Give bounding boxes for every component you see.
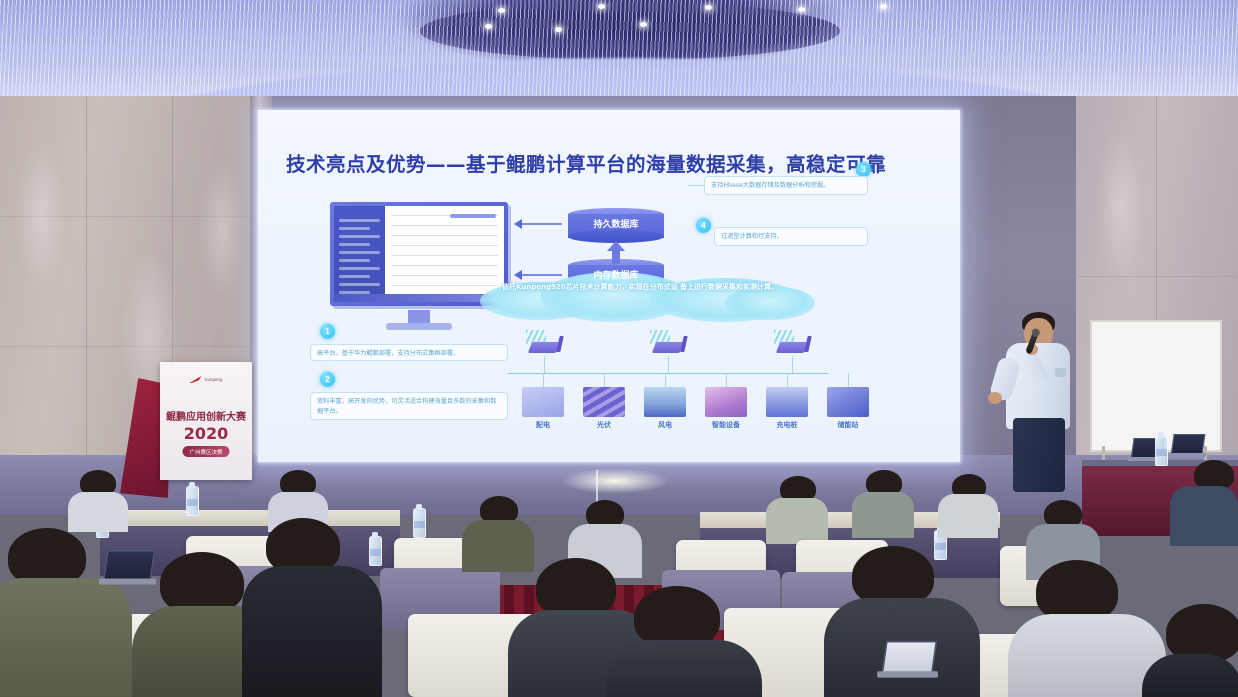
- device-label-1: 光伏: [583, 420, 625, 430]
- audience-head-f6: [852, 546, 934, 606]
- device-wind: 风电: [644, 387, 686, 430]
- audience-body-f8: [1142, 654, 1238, 697]
- laptop-audience-2: [877, 641, 935, 679]
- water-bottle-4: [369, 536, 382, 566]
- callout-bubble-1: 高平台，基于华为鲲鹏部署，支持分布式集群部署。: [310, 344, 508, 361]
- callout-badge-1: 1: [320, 324, 335, 339]
- audience-body-b5: [938, 494, 998, 538]
- presenter-left-hand: [988, 392, 1002, 404]
- audience-body-f5: [606, 640, 762, 697]
- audience-head-f5: [634, 586, 720, 648]
- audience-body-b2: [68, 492, 128, 532]
- kunpeng-logo: Kunpeng: [189, 376, 222, 383]
- standee-subtitle: 广州赛区决赛: [182, 446, 229, 457]
- device-smart: 智能设备: [705, 387, 747, 430]
- laptop-2: [1168, 434, 1204, 458]
- cloud-caption: 依托Kunpeng920芯片技术计算能力，实现在分布式设 备上进行数据采集和实测…: [470, 282, 810, 294]
- gateway-device-icon-1: [530, 336, 564, 356]
- audience-body-f3: [242, 566, 382, 697]
- device-energy-storage: 储能站: [827, 387, 869, 430]
- audience-body-m1: [462, 520, 534, 572]
- audience-body-b3: [766, 498, 828, 544]
- device-label-3: 智能设备: [705, 420, 747, 430]
- projection-screen: 技术亮点及优势——基于鲲鹏计算平台的海量数据采集，高稳定可靠: [258, 110, 960, 462]
- water-bottle-judges: [1155, 436, 1168, 466]
- device-solar: 光伏: [583, 387, 625, 430]
- wind-turbine-icon: [644, 387, 686, 417]
- whiteboard: [1090, 320, 1222, 452]
- persistent-database-icon: 持久数据库: [568, 208, 664, 242]
- callout-bubble-4: 过滤型计算和行支持。: [714, 227, 868, 246]
- conference-photo: 技术亮点及优势——基于鲲鹏计算平台的海量数据采集，高稳定可靠: [0, 0, 1238, 697]
- audience-body-b6: [1170, 486, 1238, 546]
- standee-year: 2020: [160, 424, 252, 443]
- callout-badge-3: 3: [856, 162, 871, 177]
- smart-device-icon: [705, 387, 747, 417]
- device-power-distribution: 配电: [522, 387, 564, 430]
- monitor-sidebar: [334, 206, 385, 302]
- audience-body-f1: [0, 578, 132, 697]
- device-label-2: 风电: [644, 420, 686, 430]
- device-label-5: 储能站: [827, 420, 869, 430]
- standee-title: 鲲鹏应用创新大赛: [160, 408, 252, 423]
- memory-database-label: 内存数据库: [568, 268, 664, 281]
- callout-badge-4: 4: [696, 218, 711, 233]
- charging-pile-icon: [766, 387, 808, 417]
- audience-head-f2: [160, 552, 244, 614]
- gateway-device-icon-2: [654, 336, 688, 356]
- solar-panel-icon: [583, 387, 625, 417]
- gateway-device-icon-3: [778, 336, 812, 356]
- kunpeng-brand-text: Kunpeng: [204, 377, 222, 382]
- ceiling-recess: [420, 2, 840, 60]
- device-label-0: 配电: [522, 420, 564, 430]
- slide-title: 技术亮点及优势——基于鲲鹏计算平台的海量数据采集，高稳定可靠: [286, 148, 931, 177]
- energy-storage-icon: [827, 387, 869, 417]
- laptop-audience-1: [99, 550, 153, 586]
- kunpeng-mark-icon: [189, 376, 201, 383]
- light-flare: [560, 468, 670, 494]
- persistent-database-label: 持久数据库: [568, 217, 664, 230]
- presenter-pants: [1013, 418, 1065, 492]
- callout-bubble-2: 资料丰富，高开发的优势，可灵活适合构建海量且多数的采集和数据平台。: [310, 392, 508, 420]
- device-charging-pile: 充电桩: [766, 387, 808, 430]
- device-label-4: 充电桩: [766, 420, 808, 430]
- delegate-table-left: [100, 510, 400, 526]
- callout-bubble-3: 支持Hbase大数据存储及数据分析和挖掘。: [704, 176, 868, 195]
- event-standee-banner: Kunpeng 鲲鹏应用创新大赛 2020 广州赛区决赛: [160, 362, 252, 480]
- audience-head-f7: [1036, 560, 1118, 622]
- water-bottle-3: [413, 508, 426, 538]
- water-bottle-1: [186, 486, 199, 516]
- callout-badge-2: 2: [320, 372, 335, 387]
- audience-head-f4: [536, 558, 616, 618]
- power-distribution-icon: [522, 387, 564, 417]
- presenter-sleeve-badge: [1055, 368, 1066, 377]
- audience-body-b4: [852, 492, 914, 538]
- presentation-slide: 技术亮点及优势——基于鲲鹏计算平台的海量数据采集，高稳定可靠: [258, 110, 960, 462]
